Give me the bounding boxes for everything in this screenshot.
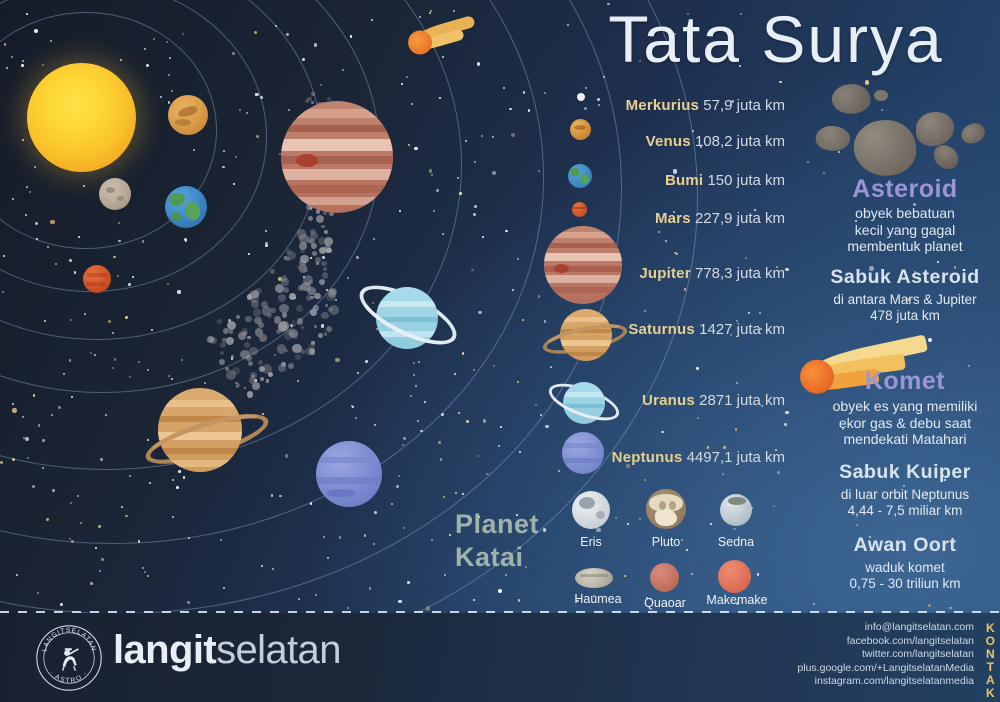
contact-twitter[interactable]: twitter.com/langitselatan <box>714 648 974 662</box>
comet-desc-line2: ekor gas & debu saat <box>804 415 1000 432</box>
scale-name-merkurius: Merkurius <box>626 97 700 114</box>
kuiper-belt-desc: di luar orbit Neptunus 4,44 - 7,5 miliar… <box>806 487 1000 519</box>
contact-googleplus[interactable]: plus.google.com/+LangitselatanMedia <box>714 662 974 676</box>
scale-distance-uranus: 2871 juta km <box>699 392 785 409</box>
scale-name-saturnus: Saturnus <box>628 321 695 338</box>
comet-title: Komet <box>810 367 1000 396</box>
scale-name-venus: Venus <box>646 133 691 150</box>
scale-icon-bumi <box>568 164 592 188</box>
oort-cloud-desc-line2: 0,75 - 30 triliun km <box>806 576 1000 592</box>
comet-desc: obyek es yang memiliki ekor gas & debu s… <box>804 398 1000 448</box>
dwarf-label-haumea: Haumea <box>564 592 632 606</box>
scale-name-jupiter: Jupiter <box>639 265 690 282</box>
scale-name-neptunus: Neptunus <box>612 449 683 466</box>
scale-name-uranus: Uranus <box>642 392 695 409</box>
comet-desc-line1: obyek es yang memiliki <box>804 398 1000 415</box>
asteroid-belt-desc-line1: di antara Mars & Jupiter <box>806 292 1000 308</box>
scale-icon-neptunus <box>562 432 604 474</box>
dwarf-icon-makemake <box>718 560 751 593</box>
scale-name-bumi: Bumi <box>665 172 703 189</box>
asteroid-belt-desc-line2: 478 juta km <box>806 308 1000 324</box>
dwarf-heading-line1: Planet <box>455 508 555 541</box>
dwarf-heading-line2: Katai <box>455 541 555 574</box>
scale-icon-venus <box>570 119 591 140</box>
scale-icon-mars <box>572 202 587 217</box>
kontak-label: KONTAK <box>986 622 996 700</box>
planet-uranus-diagram <box>345 265 470 360</box>
contact-instagram[interactable]: instagram.com/langitselatanmedia <box>714 675 974 689</box>
asteroid-desc-line2: kecil yang gagal <box>808 222 1000 239</box>
scale-name-mars: Mars <box>655 210 691 227</box>
scale-distance-bumi: 150 juta km <box>707 172 785 189</box>
dwarf-icon-eris <box>572 491 610 529</box>
scale-distance-venus: 108,2 juta km <box>695 133 785 150</box>
asteroid-cluster <box>816 84 994 180</box>
asteroid-desc-line3: membentuk planet <box>808 238 1000 255</box>
scale-row-venus: Venus 108,2 juta km <box>646 133 785 150</box>
brand-light: selatan <box>216 628 341 672</box>
brand-bold: langit <box>113 628 216 672</box>
dwarf-label-quaoar: Quaoar <box>634 596 696 610</box>
scale-row-saturnus: Saturnus 1427 juta km <box>628 321 785 338</box>
dwarf-heading: Planet Katai <box>455 508 555 574</box>
asteroid-title: Asteroid <box>810 175 1000 204</box>
scale-distance-mars: 227,9 juta km <box>695 210 785 227</box>
planet-mars-diagram <box>83 265 111 293</box>
oort-cloud-desc-line1: waduk komet <box>806 560 1000 576</box>
logo-badge: LANGITSELATAN · ASTRO · <box>34 623 104 693</box>
dwarf-icon-quaoar <box>650 563 679 592</box>
kuiper-belt-title: Sabuk Kuiper <box>808 461 1000 484</box>
planet-merkurius-diagram <box>99 178 131 210</box>
scale-row-jupiter: Jupiter 778,3 juta km <box>639 265 785 282</box>
contact-facebook[interactable]: facebook.com/langitselatan <box>714 635 974 649</box>
dwarf-icon-sedna <box>720 494 752 526</box>
scale-row-neptunus: Neptunus 4497,1 juta km <box>612 449 785 466</box>
asteroid-desc-line1: obyek bebatuan <box>808 205 1000 222</box>
planet-saturnus-diagram <box>128 370 278 480</box>
planet-bumi-diagram <box>165 186 207 228</box>
scale-row-merkurius: Merkurius 57,9 juta km <box>626 97 785 114</box>
asteroid-belt-desc: di antara Mars & Jupiter 478 juta km <box>806 292 1000 324</box>
dwarf-label-sedna: Sedna <box>706 535 766 549</box>
dwarf-icon-haumea <box>575 568 613 588</box>
dwarf-label-makemake: Makemake <box>698 593 776 607</box>
asteroid-desc: obyek bebatuan kecil yang gagal membentu… <box>808 205 1000 255</box>
scale-icon-merkurius <box>577 93 585 101</box>
scale-distance-merkurius: 57,9 juta km <box>703 97 785 114</box>
sun <box>27 63 136 172</box>
planet-neptunus-diagram <box>316 441 382 507</box>
page-title: Tata Surya <box>566 2 986 76</box>
scale-distance-neptunus: 4497,1 juta km <box>687 449 785 466</box>
brand-wordmark: langitselatan <box>113 628 341 673</box>
scale-icon-uranus <box>541 368 627 430</box>
scale-row-bumi: Bumi 150 juta km <box>665 172 785 189</box>
planet-venus-diagram <box>168 95 208 135</box>
scale-icon-saturnus <box>537 300 633 366</box>
dwarf-icon-pluto <box>646 489 686 529</box>
scale-icon-jupiter <box>544 226 622 304</box>
contact-email[interactable]: info@langitselatan.com <box>714 621 974 635</box>
solar-system-infographic: Tata Surya <box>0 0 1000 702</box>
comet-desc-line3: mendekati Matahari <box>804 431 1000 448</box>
dwarf-label-eris: Eris <box>561 535 621 549</box>
contact-list: info@langitselatan.com facebook.com/lang… <box>714 621 974 689</box>
scale-row-uranus: Uranus 2871 juta km <box>642 392 785 409</box>
scale-distance-jupiter: 778,3 juta km <box>695 265 785 282</box>
kuiper-belt-desc-line2: 4,44 - 7,5 miliar km <box>806 503 1000 519</box>
scale-row-mars: Mars 227,9 juta km <box>655 210 785 227</box>
footer-divider <box>0 611 1000 613</box>
kuiper-belt-desc-line1: di luar orbit Neptunus <box>806 487 1000 503</box>
svg-text:· ASTRO ·: · ASTRO · <box>48 669 89 684</box>
asteroid-belt-title: Sabuk Asteroid <box>808 266 1000 289</box>
oort-cloud-title: Awan Oort <box>808 534 1000 557</box>
dwarf-label-pluto: Pluto <box>636 535 696 549</box>
planet-jupiter-diagram <box>281 101 393 213</box>
oort-cloud-desc: waduk komet 0,75 - 30 triliun km <box>806 560 1000 592</box>
scale-distance-saturnus: 1427 juta km <box>699 321 785 338</box>
